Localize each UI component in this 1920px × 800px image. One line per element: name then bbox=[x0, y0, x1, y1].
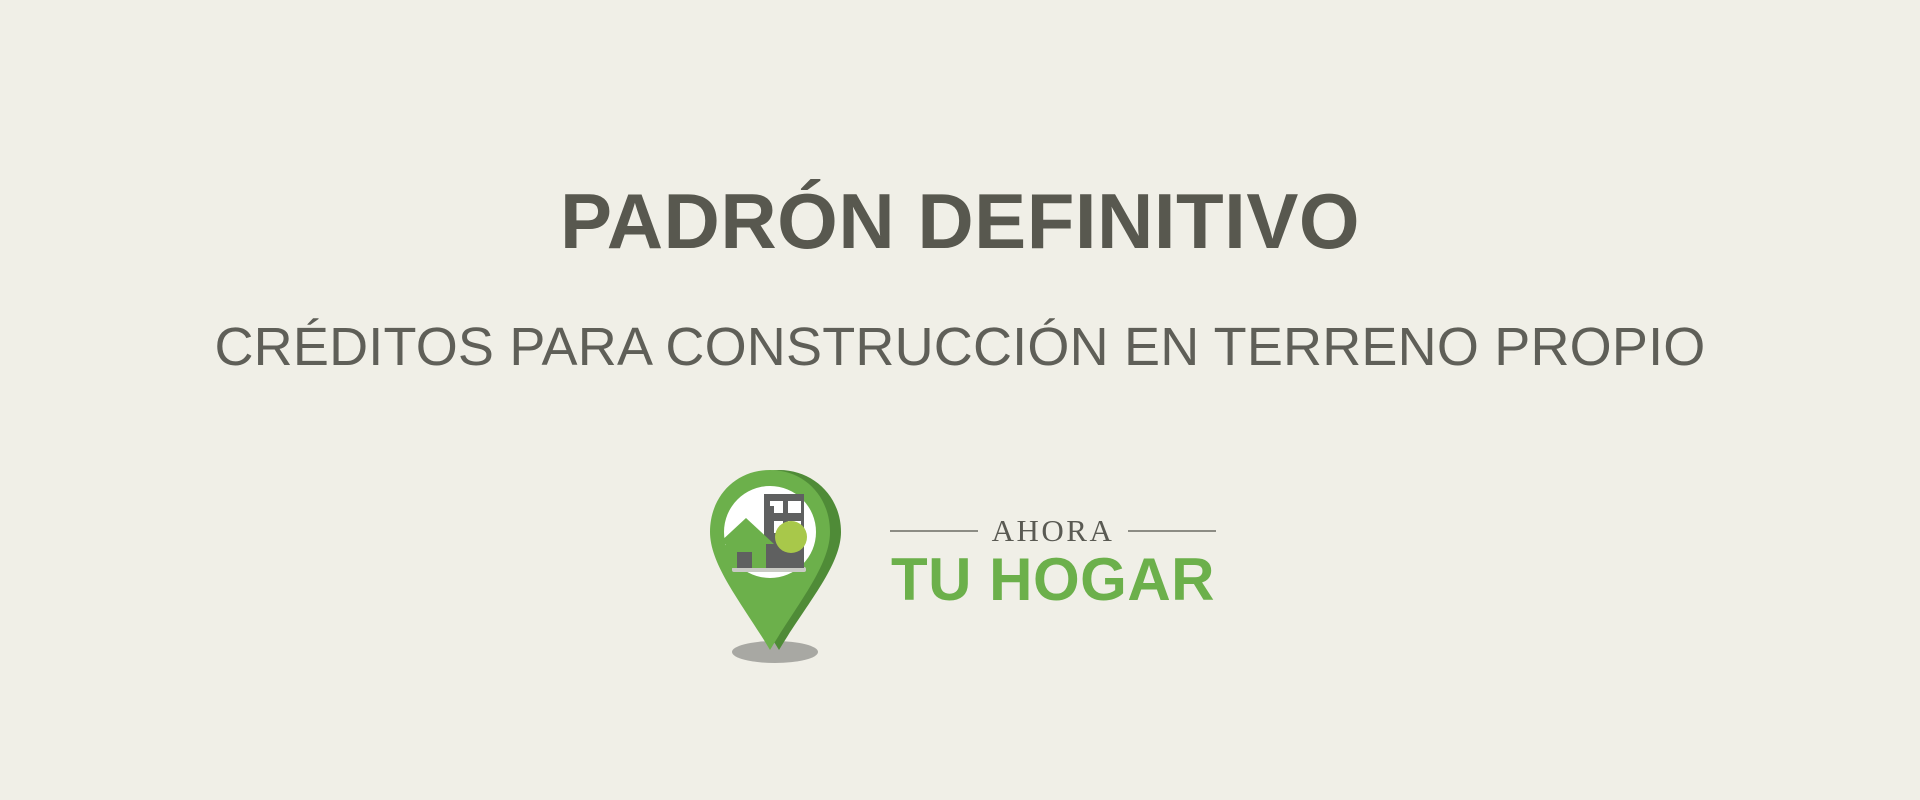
logo-wordmark: AHORA TU HOGAR bbox=[890, 515, 1217, 617]
logo-tagline: AHORA bbox=[992, 515, 1115, 546]
tagline-rule-left bbox=[890, 530, 978, 532]
logo-lockup: AHORA TU HOGAR bbox=[704, 466, 1217, 666]
map-pin-house-icon bbox=[704, 466, 854, 666]
page-title: PADRÓN DEFINITIVO bbox=[0, 182, 1920, 260]
heading-block: PADRÓN DEFINITIVO CRÉDITOS PARA CONSTRUC… bbox=[0, 182, 1920, 374]
logo-name: TU HOGAR bbox=[890, 548, 1217, 611]
logo-tagline-row: AHORA bbox=[890, 515, 1217, 546]
page-subtitle: CRÉDITOS PARA CONSTRUCCIÓN EN TERRENO PR… bbox=[0, 320, 1920, 374]
slide-canvas: PADRÓN DEFINITIVO CRÉDITOS PARA CONSTRUC… bbox=[0, 0, 1920, 800]
tagline-rule-right bbox=[1128, 530, 1216, 532]
